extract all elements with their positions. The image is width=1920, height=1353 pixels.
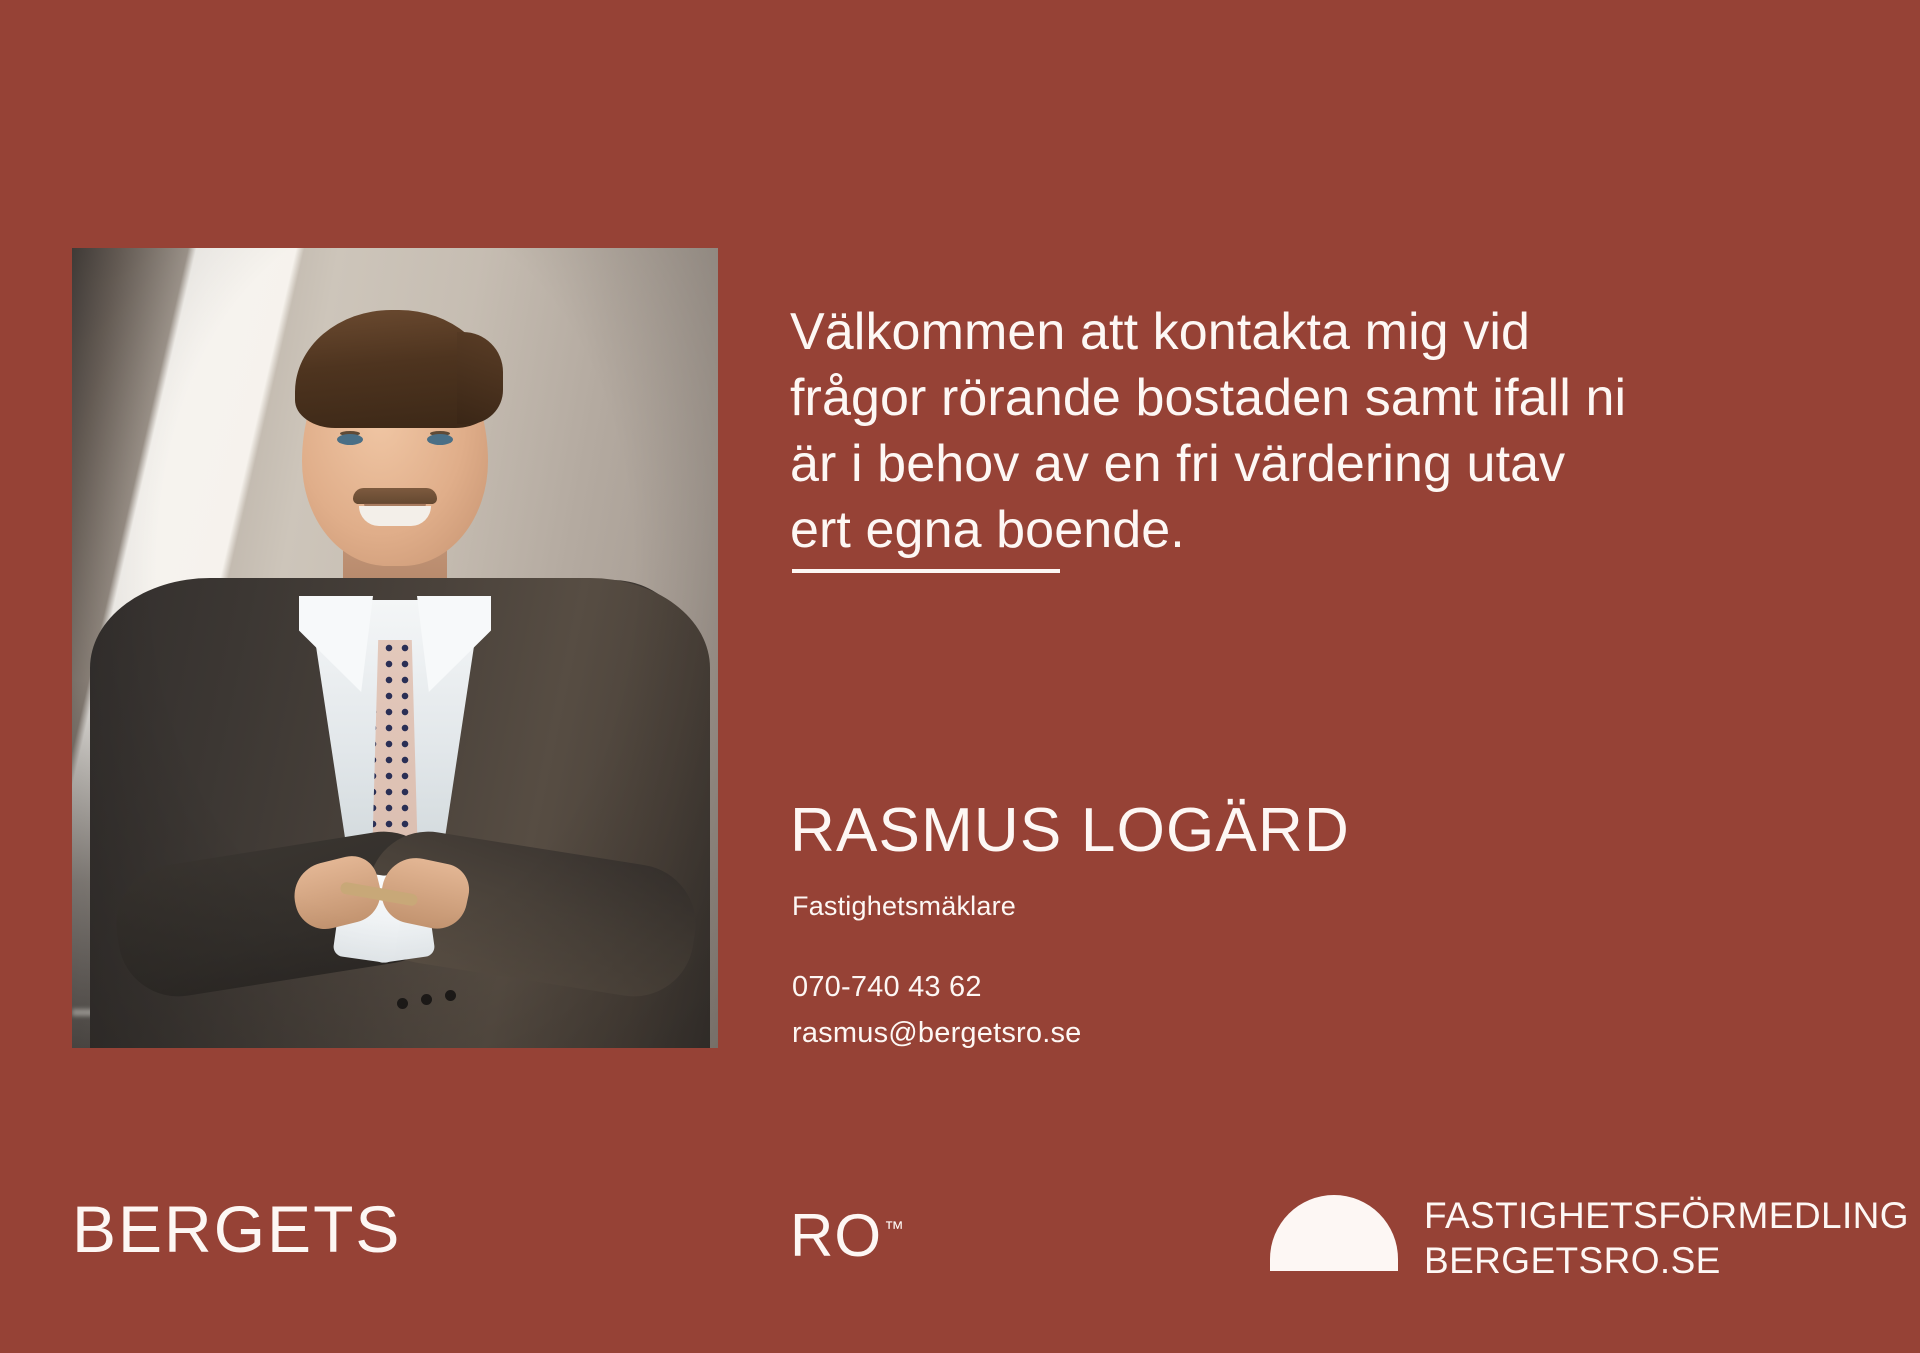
brand-wordmark-bergets: BERGETS: [72, 1191, 401, 1267]
headline-message: Välkommen att kontakta mig vid frågor rö…: [790, 299, 1830, 563]
portrait-figure: [72, 248, 718, 1048]
mouth: [359, 506, 431, 526]
content-column: Välkommen att kontakta mig vid frågor rö…: [790, 0, 1850, 1353]
divider-rule: [792, 569, 1060, 573]
company-name-lines: FASTIGHETSFÖRMEDLING BERGETSRO.SE: [1424, 1187, 1909, 1283]
hair: [295, 310, 495, 428]
eye-left: [337, 434, 363, 445]
footer-brand-bar: BERGETS RO™ FASTIGHETSFÖRMEDLING BERGETS…: [0, 1163, 1920, 1353]
brand-ro-text: RO: [790, 1202, 882, 1269]
dome-arch-icon: [1270, 1195, 1398, 1271]
brand-wordmark-ro: RO™: [790, 1193, 904, 1272]
eye-right: [427, 434, 453, 445]
agent-email[interactable]: rasmus@bergetsro.se: [792, 1010, 1082, 1056]
agent-name: RASMUS LOGÄRD: [790, 795, 1350, 867]
sleeve-button: [421, 994, 432, 1005]
sleeve-button: [397, 998, 408, 1009]
sleeve-button: [445, 990, 456, 1001]
company-line-2: BERGETSRO.SE: [1424, 1238, 1909, 1283]
agent-contact-block: 070-740 43 62 rasmus@bergetsro.se: [792, 964, 1082, 1056]
company-logo-group: FASTIGHETSFÖRMEDLING BERGETSRO.SE: [1270, 1187, 1909, 1283]
company-line-1: FASTIGHETSFÖRMEDLING: [1424, 1193, 1909, 1238]
contact-card: Välkommen att kontakta mig vid frågor rö…: [0, 0, 1920, 1353]
agent-role: Fastighetsmäklare: [792, 889, 1016, 923]
agent-portrait-photo: [72, 248, 718, 1048]
trademark-icon: ™: [884, 1218, 904, 1240]
agent-phone[interactable]: 070-740 43 62: [792, 964, 1082, 1010]
moustache: [353, 488, 437, 504]
